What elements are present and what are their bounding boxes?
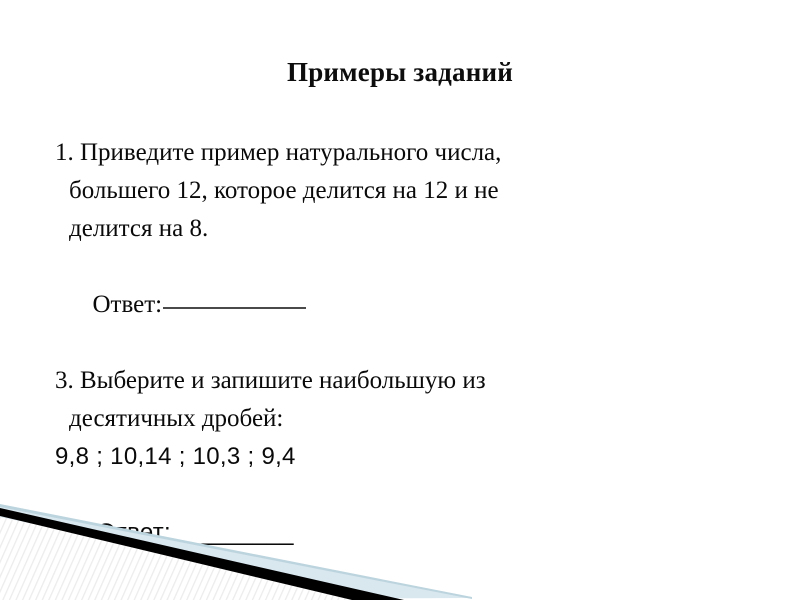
slide-body: 1. Приведите пример натурального числа, … <box>55 134 715 590</box>
task1-line-2: большего 12, которое делится на 12 и не <box>55 172 715 210</box>
task3-line-1: 3. Выберите и запишите наибольшую из <box>55 362 715 400</box>
answer-blank-1 <box>163 307 306 309</box>
task3-line-2: десятичных дробей: <box>55 400 715 438</box>
task1-line-3: делится на 8. <box>55 210 715 248</box>
task3-values: 9,8 ; 10,14 ; 10,3 ; 9,4 <box>55 438 715 476</box>
slide: Примеры заданий 1. Приведите пример нату… <box>0 0 800 600</box>
answer-label-1: Ответ: <box>93 286 163 324</box>
answer-line-2: Ответ:_________ <box>55 476 715 590</box>
page-title: Примеры заданий <box>0 56 800 88</box>
task1-line-1: 1. Приведите пример натурального числа, <box>55 134 715 172</box>
answer-label-2: Ответ: <box>97 519 171 546</box>
answer-row-1: Ответ: <box>93 286 307 324</box>
answer-blank-2: _________ <box>171 519 294 546</box>
answer-line-1: Ответ: <box>55 248 715 362</box>
